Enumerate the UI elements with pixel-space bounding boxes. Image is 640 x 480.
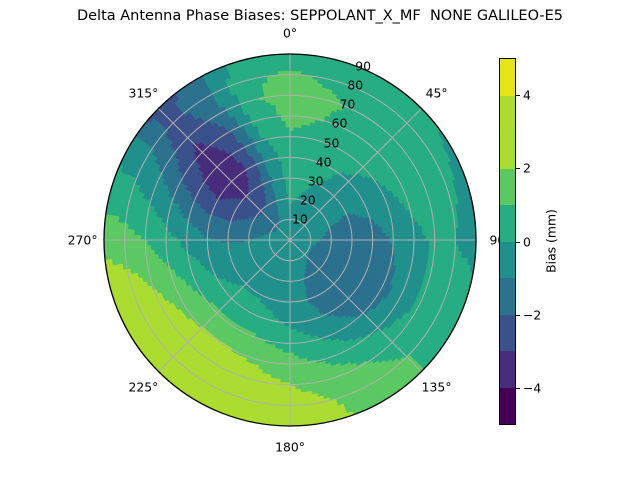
angular-tick-225: 225° [128, 379, 158, 394]
colorbar-band-6 [500, 169, 515, 206]
radial-tick-10: 10 [292, 211, 308, 226]
radial-tick-60: 60 [332, 116, 348, 131]
radial-tick-50: 50 [324, 135, 340, 150]
colorbar-tick-mark-0 [516, 95, 520, 96]
colorbar-tick-mark-4 [516, 388, 520, 389]
colorbar-axis-label: Bias (mm) [544, 209, 559, 273]
colorbar-band-4 [500, 242, 515, 279]
colorbar-band-7 [500, 132, 515, 169]
colorbar-band-8 [500, 96, 515, 133]
radial-tick-70: 70 [340, 97, 356, 112]
colorbar-tick-label-1: 2 [523, 161, 531, 176]
colorbar-tick-mark-2 [516, 242, 520, 243]
radial-tick-90: 90 [355, 59, 371, 74]
radial-tick-40: 40 [316, 154, 332, 169]
colorbar-tick-mark-1 [516, 168, 520, 169]
colorbar-band-0 [500, 388, 515, 425]
colorbar-tick-mark-3 [516, 315, 520, 316]
colorbar-tick-label-0: 4 [523, 87, 531, 102]
radial-tick-20: 20 [300, 192, 316, 207]
radial-tick-80: 80 [347, 78, 363, 93]
angular-tick-0: 0° [283, 25, 297, 40]
colorbar-tick-label-3: −2 [523, 307, 541, 322]
colorbar-band-5 [500, 205, 515, 242]
angular-tick-270: 270° [68, 233, 98, 248]
polar-grid-layer [104, 54, 476, 426]
angular-tick-135: 135° [422, 379, 452, 394]
angular-tick-45: 45° [426, 86, 448, 101]
colorbar-tick-label-4: −4 [523, 381, 541, 396]
colorbar[interactable]: 420−2−4 [499, 58, 516, 425]
radial-tick-30: 30 [308, 173, 324, 188]
angular-tick-180: 180° [275, 440, 305, 455]
colorbar-tick-label-2: 0 [523, 234, 531, 249]
colorbar-band-2 [500, 315, 515, 352]
colorbar-band-9 [500, 59, 515, 96]
colorbar-band-1 [500, 351, 515, 388]
figure-canvas: Delta Antenna Phase Biases: SEPPOLANT_X_… [0, 0, 640, 480]
angular-tick-315: 315° [128, 86, 158, 101]
colorbar-gradient [499, 58, 516, 425]
colorbar-band-3 [500, 278, 515, 315]
